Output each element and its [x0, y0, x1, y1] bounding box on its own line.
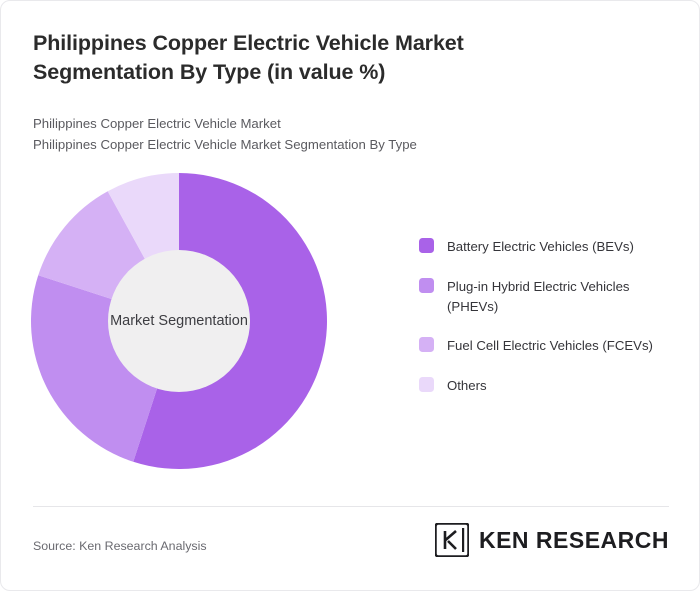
brand-logo: KEN RESEARCH [435, 523, 669, 557]
legend-label: Fuel Cell Electric Vehicles (FCEVs) [447, 336, 653, 356]
donut-chart-wrapper: Market Segmentation [29, 171, 329, 471]
legend-swatch-icon [419, 278, 434, 293]
donut-hole [108, 250, 250, 392]
subtitle-line-1: Philippines Copper Electric Vehicle Mark… [33, 113, 633, 134]
legend-swatch-icon [419, 337, 434, 352]
chart-subtitle: Philippines Copper Electric Vehicle Mark… [33, 113, 633, 155]
footer-divider [33, 506, 669, 507]
legend-label: Plug-in Hybrid Electric Vehicles (PHEVs) [447, 277, 672, 317]
legend-item[interactable]: Plug-in Hybrid Electric Vehicles (PHEVs) [419, 277, 681, 317]
legend-item[interactable]: Others [419, 376, 681, 396]
legend-label: Others [447, 376, 487, 396]
source-note: Source: Ken Research Analysis [33, 539, 207, 553]
donut-chart: Market Segmentation [29, 171, 339, 481]
legend-item[interactable]: Battery Electric Vehicles (BEVs) [419, 237, 681, 257]
legend-item[interactable]: Fuel Cell Electric Vehicles (FCEVs) [419, 336, 681, 356]
subtitle-line-2: Philippines Copper Electric Vehicle Mark… [33, 134, 633, 155]
donut-chart-svg [29, 171, 329, 471]
chart-legend: Battery Electric Vehicles (BEVs)Plug-in … [419, 237, 681, 416]
legend-swatch-icon [419, 238, 434, 253]
legend-label: Battery Electric Vehicles (BEVs) [447, 237, 634, 257]
page-title: Philippines Copper Electric Vehicle Mark… [33, 29, 593, 87]
ken-research-logo-svg [435, 523, 469, 557]
chart-card: Philippines Copper Electric Vehicle Mark… [0, 0, 700, 591]
legend-swatch-icon [419, 377, 434, 392]
brand-name: KEN RESEARCH [479, 527, 669, 554]
ken-research-logo-icon [435, 523, 469, 557]
